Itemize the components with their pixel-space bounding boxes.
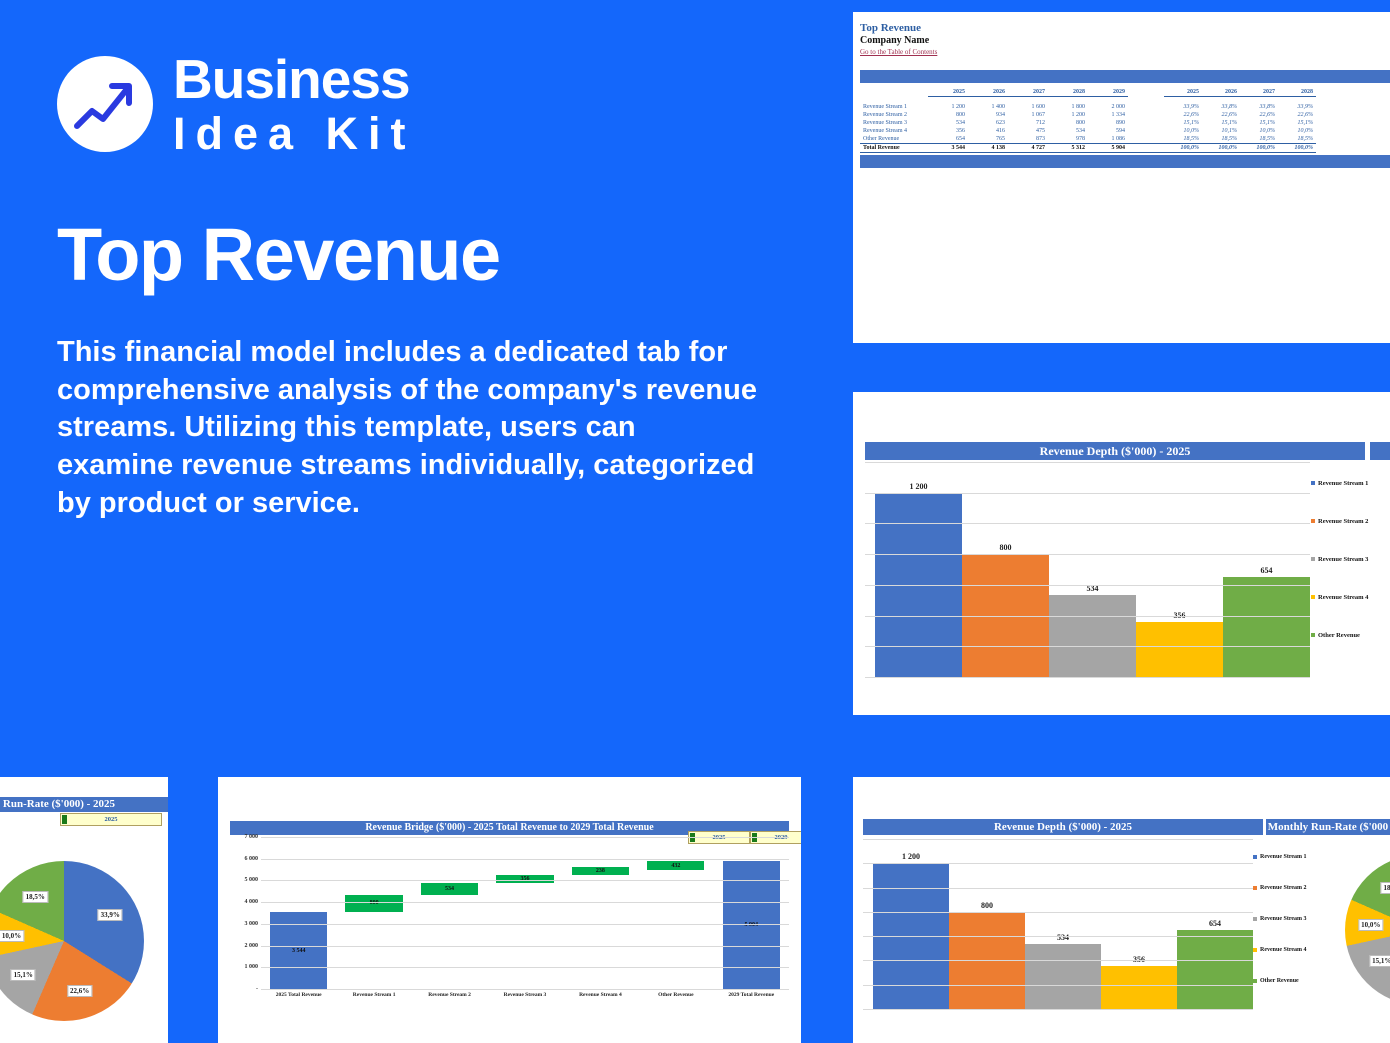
band-top5-chart: Top 5 Revenue Streams ($'000) - 5 Years … [860,155,1390,168]
x-tick: Revenue Stream 1 [336,992,411,998]
table-row: Revenue Stream 435641647553459410,0%10,1… [860,127,1316,135]
company-name: Company Name [860,35,1390,46]
y-tick: 6 000 [245,856,259,862]
sheet-header: Top Revenue Company Name Go to the Table… [853,12,1390,56]
pie-data-label: 18,5% [1380,882,1390,894]
data-label: 654 [1209,919,1221,928]
table-row: Other Revenue6547658739781 08618,5%18,5%… [860,135,1316,144]
legend-item: Revenue Stream 2 [1311,502,1390,540]
legend-label: Other Revenue [1318,632,1360,639]
year-header: 2025 [928,88,968,97]
data-label: 238 [596,868,605,874]
panel-top-revenue-sheet: Top Revenue Company Name Go to the Table… [853,12,1390,343]
legend-item: Revenue Stream 1 [1311,464,1390,502]
page-description: This financial model includes a dedicate… [57,334,757,522]
legend-label: Revenue Stream 2 [1260,885,1307,891]
bar [1049,595,1136,677]
pie-data-label: 33,9% [98,909,123,921]
page-title: Top Revenue [57,218,817,292]
brand-name-line2: Idea Kit [173,111,416,156]
year-header: 2028 [1048,88,1088,97]
data-label: 356 [1133,955,1145,964]
bar [1101,966,1177,1009]
bar-column: 356 [1136,462,1223,677]
depth2-plot-area: 1 200800534356654 [863,839,1253,1009]
x-tick: 2025 Total Revenue [261,992,336,998]
chart-revenue-depth-2025: 1 200800534356654 [865,462,1310,677]
brand-logo: Business Idea Kit [57,52,817,156]
data-label: 800 [1000,543,1012,552]
pie-data-label: 15,1% [11,969,36,981]
chart-revenue-depth-2025-b: 1 200800534356654 [863,839,1253,1009]
data-label: 534 [445,886,454,892]
depth-chart-legend: Revenue Stream 1Revenue Stream 2Revenue … [1311,464,1390,654]
data-label: 800 [981,901,993,910]
pie-data-label: 18,5% [23,891,48,903]
y-tick: 7 000 [245,834,259,840]
y-tick: 5 000 [245,877,259,883]
waterfall-column: 534 [412,837,487,989]
brand-name-line1: Business [173,52,416,107]
bar-column: 534 [1025,839,1101,1009]
pct-year-header: 2026 [1202,88,1240,97]
year-header: 2027 [1008,88,1048,97]
slide-canvas: Business Idea Kit Top Revenue This finan… [0,0,1390,1043]
y-tick: 1 000 [245,964,259,970]
legend-item: Other Revenue [1253,965,1333,996]
bar-column: 654 [1177,839,1253,1009]
y-tick: 3 000 [245,921,259,927]
year-header: 2029 [1088,88,1128,97]
table-row: Revenue Stream 11 2001 4001 6001 8002 00… [860,103,1316,111]
data-label: 1 200 [910,482,928,491]
y-tick: 4 000 [245,899,259,905]
x-tick: Revenue Stream 4 [563,992,638,998]
year-dropdown[interactable]: 2025 [60,813,162,826]
table-total-row: Total Revenue3 5444 1384 7275 3125 90410… [860,143,1316,152]
y-tick: - [256,986,258,992]
bar [1223,577,1310,677]
pie-data-label: 10,0% [1358,919,1383,931]
waterfall-column: 356 [487,837,562,989]
bar-column: 534 [1049,462,1136,677]
panel-monthly-run-rate-pie: Run-Rate ($'000) - 2025 2025 33,9%22,6%1… [0,777,168,1043]
bar [1025,944,1101,1009]
legend-label: Revenue Stream 4 [1260,947,1307,953]
legend-item: Revenue Stream 3 [1253,903,1333,934]
band-spacer [1370,442,1390,460]
waterfall-column: 800 [336,837,411,989]
data-label: 5 904 [744,922,758,928]
pie-data-label: 15,1% [1369,955,1390,967]
bar-column: 356 [1101,839,1177,1009]
legend-item: Other Revenue [1311,616,1390,654]
waterfall-column: 432 [638,837,713,989]
data-label: 654 [1261,566,1273,575]
bar [1177,930,1253,1009]
pie-data-label: 10,0% [0,930,24,942]
band-top5-table: Top 5 Revenue Streams ($'000) - 5 Years … [860,70,1390,83]
hero-section: Business Idea Kit Top Revenue This finan… [57,52,817,522]
waterfall-delta-bar: 356 [496,875,553,883]
x-tick: Revenue Stream 3 [487,992,562,998]
waterfall-column: 238 [563,837,638,989]
waterfall-delta-bar: 432 [647,861,704,870]
waterfall-column: 3 544 [261,837,336,989]
table-row: Revenue Stream 28009341 0671 2001 33422,… [860,111,1316,119]
growth-chart-circle-icon [57,56,153,152]
waterfall-plot-area: 3 5448005343562384325 904 [261,837,789,989]
legend-item: Revenue Stream 1 [1253,841,1333,872]
revenue-table: 202520262027202820292025202620272028 Rev… [860,88,1316,153]
legend-label: Revenue Stream 1 [1260,854,1307,860]
x-tick: 2029 Total Revenue [714,992,789,998]
legend-label: Revenue Stream 3 [1260,916,1307,922]
band-monthly-run-rate: Monthly Run-Rate ($'000 [1266,819,1390,835]
panel-revenue-depth: Revenue Depth ($'000) - 2025 1 200800534… [853,392,1390,715]
band-revenue-depth: Revenue Depth ($'000) - 2025 [865,442,1365,460]
panel-revenue-bridge: Revenue Bridge ($'000) - 2025 Total Reve… [218,777,801,1043]
legend-label: Other Revenue [1260,978,1299,984]
sheet-title: Top Revenue [860,22,1390,34]
legend-label: Revenue Stream 1 [1318,480,1368,487]
waterfall-delta-bar: 238 [572,867,629,875]
y-tick: 2 000 [245,943,259,949]
panel-depth-and-runrate: Revenue Depth ($'000) - 2025 Monthly Run… [853,777,1390,1043]
legend-item: Revenue Stream 4 [1311,578,1390,616]
data-label: 534 [1057,933,1069,942]
legend-item: Revenue Stream 4 [1253,934,1333,965]
legend-item: Revenue Stream 3 [1311,540,1390,578]
pie-data-label: 22,6% [67,985,92,997]
waterfall-delta-bar: 800 [345,895,402,912]
pct-year-header: 2025 [1164,88,1202,97]
x-tick: Other Revenue [638,992,713,998]
data-label: 432 [671,863,680,869]
year-header: 2026 [968,88,1008,97]
legend-item: Revenue Stream 2 [1253,872,1333,903]
pct-year-header: 2028 [1278,88,1316,97]
bar-column: 1 200 [873,839,949,1009]
waterfall-column: 5 904 [714,837,789,989]
pct-year-header: 2027 [1240,88,1278,97]
legend-label: Revenue Stream 2 [1318,518,1368,525]
table-of-contents-link[interactable]: Go to the Table of Contents [860,48,1390,56]
waterfall-y-axis: -1 0002 0003 0004 0005 0006 0007 000 [230,837,260,989]
x-tick: Revenue Stream 2 [412,992,487,998]
legend-label: Revenue Stream 4 [1318,594,1368,601]
legend-label: Revenue Stream 3 [1318,556,1368,563]
bar-column: 800 [962,462,1049,677]
chart-revenue-bridge-waterfall: -1 0002 0003 0004 0005 0006 0007 000 3 5… [230,837,789,1012]
depth2-chart-legend: Revenue Stream 1Revenue Stream 2Revenue … [1253,841,1333,996]
band-revenue-depth-2: Revenue Depth ($'000) - 2025 [863,819,1263,835]
bar [1136,622,1223,677]
waterfall-delta-bar: 534 [421,883,478,895]
band-run-rate: Run-Rate ($'000) - 2025 [0,797,168,812]
waterfall-x-axis: 2025 Total RevenueRevenue Stream 1Revenu… [261,992,789,998]
table-row: Revenue Stream 353462371280089015,1%15,1… [860,119,1316,127]
data-label: 3 544 [292,948,306,954]
bar-column: 654 [1223,462,1310,677]
bar-column: 1 200 [875,462,962,677]
depth-plot-area: 1 200800534356654 [865,462,1310,677]
data-label: 1 200 [902,852,920,861]
bar-column: 800 [949,839,1025,1009]
